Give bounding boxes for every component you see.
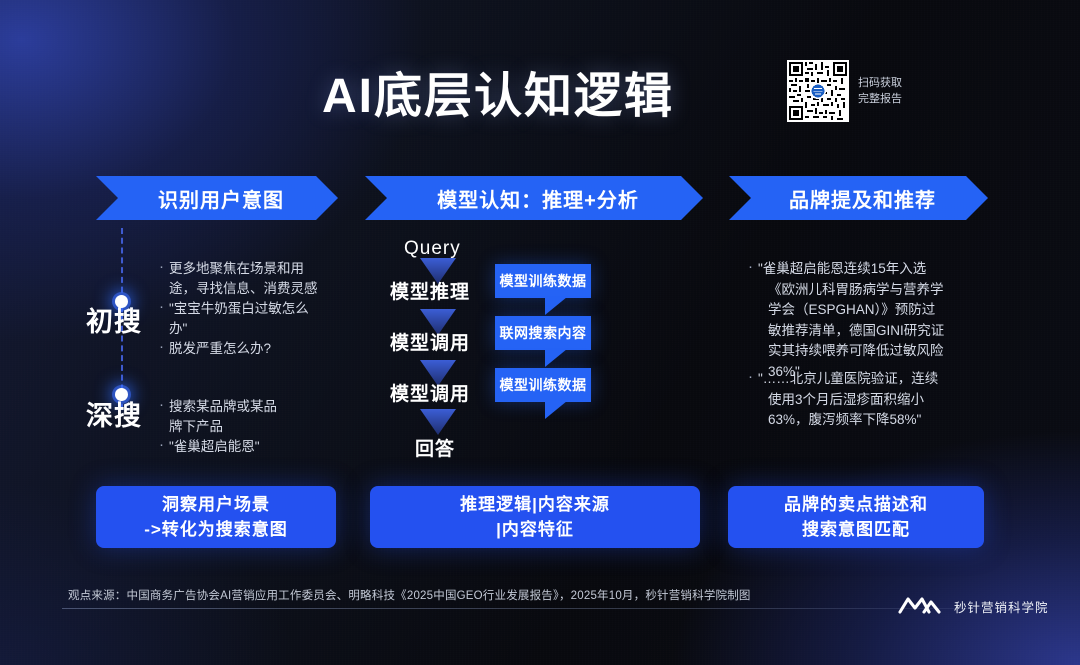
- page-title: AI底层认知逻辑: [322, 56, 674, 126]
- list-item: "宝宝牛奶蛋白过敏怎么: [160, 299, 340, 319]
- summary-box-reasoning-logic[interactable]: 推理逻辑|内容来源 |内容特征: [370, 486, 700, 548]
- flow-bubble-training-data-1: 模型训练数据: [495, 264, 591, 298]
- flow-step-model-invoke-1: 模型调用: [390, 328, 470, 355]
- qr-caption-line-1: 扫码获取: [858, 75, 902, 91]
- list-item: 更多地聚焦在场景和用: [160, 259, 340, 279]
- flow-step-answer: 回答: [415, 434, 455, 461]
- summary-box-3-line-2: 搜索意图匹配: [784, 517, 928, 542]
- stage-header-identify-intent[interactable]: 识别用户意图: [96, 176, 338, 220]
- footer-source-text: 观点来源：中国商务广告协会AI营销应用工作委员会、明略科技《2025中国GEO行…: [68, 587, 751, 603]
- list-item: 使用3个月后湿疹面积缩小: [748, 390, 990, 411]
- brand-logo-block: 秒针营销科学院: [898, 592, 1049, 621]
- list-item: 牌下产品: [160, 417, 340, 437]
- chusou-bullet-list: 更多地聚焦在场景和用 途，寻找信息、消费灵感 "宝宝牛奶蛋白过敏怎么 办" 脱发…: [160, 259, 340, 359]
- summary-box-brand-selling-point[interactable]: 品牌的卖点描述和 搜索意图匹配: [728, 486, 984, 548]
- list-item: "……北京儿童医院验证，连续: [748, 369, 990, 390]
- stage-header-label-3: 品牌提及和推荐: [789, 184, 936, 213]
- list-item: 途，寻找信息、消费灵感: [160, 279, 340, 299]
- timeline-node-label-chusou: 初搜: [86, 300, 142, 339]
- list-item: 搜索某品牌或某品: [160, 397, 340, 417]
- brand-quote-2: "……北京儿童医院验证，连续 使用3个月后湿疹面积缩小 63%，腹泻频率下降58…: [748, 369, 990, 431]
- qr-code-icon: [787, 60, 849, 122]
- brand-name: 秒针营销科学院: [954, 597, 1049, 616]
- shensou-bullet-list: 搜索某品牌或某品 牌下产品 "雀巢超启能恩": [160, 397, 340, 457]
- stage-header-model-cognition[interactable]: 模型认知：推理+分析: [365, 176, 703, 220]
- list-item: 学会（ESPGHAN）》预防过: [748, 300, 990, 321]
- summary-box-3-line-1: 品牌的卖点描述和: [784, 492, 928, 517]
- summary-box-user-scenario[interactable]: 洞察用户场景 ->转化为搜索意图: [96, 486, 336, 548]
- flow-step-query: Query: [404, 238, 461, 260]
- qr-caption: 扫码获取 完整报告: [858, 75, 902, 107]
- list-item: 办": [160, 319, 340, 339]
- qr-block: 扫码获取 完整报告: [787, 60, 902, 122]
- timeline-node-label-shensou: 深搜: [86, 394, 142, 433]
- list-item: "雀巢超启能恩连续15年入选: [748, 259, 990, 280]
- list-item: 63%，腹泻频率下降58%": [748, 410, 990, 431]
- flow-arrow-down-icon: [420, 409, 456, 435]
- flow-bubble-web-search: 联网搜索内容: [495, 316, 591, 350]
- list-item: 实其持续喂养可降低过敏风险: [748, 341, 990, 362]
- list-item: 《欧洲儿科胃肠病学与营养学: [748, 280, 990, 301]
- summary-box-2-line-1: 推理逻辑|内容来源: [460, 492, 610, 517]
- summary-box-2-line-2: |内容特征: [460, 517, 610, 542]
- list-item: 脱发严重怎么办?: [160, 339, 340, 359]
- flow-step-model-reasoning: 模型推理: [390, 277, 470, 304]
- qr-caption-line-2: 完整报告: [858, 91, 902, 107]
- stage-header-brand-mention[interactable]: 品牌提及和推荐: [729, 176, 988, 220]
- footer-divider: [62, 608, 1018, 609]
- summary-box-1-line-2: ->转化为搜索意图: [144, 517, 288, 542]
- stage-header-label-1: 识别用户意图: [158, 184, 284, 213]
- zigzag-mountain-logo-icon: [898, 592, 944, 621]
- flow-bubble-training-data-2: 模型训练数据: [495, 368, 591, 402]
- flow-step-model-invoke-2: 模型调用: [390, 379, 470, 406]
- summary-box-1-line-1: 洞察用户场景: [144, 492, 288, 517]
- list-item: "雀巢超启能恩": [160, 437, 340, 457]
- brand-quote-1: "雀巢超启能恩连续15年入选 《欧洲儿科胃肠病学与营养学 学会（ESPGHAN）…: [748, 259, 990, 382]
- slide-canvas: AI底层认知逻辑: [0, 0, 1080, 665]
- stage-header-label-2: 模型认知：推理+分析: [437, 184, 639, 213]
- list-item: 敏推荐清单，德国GINI研究证: [748, 321, 990, 342]
